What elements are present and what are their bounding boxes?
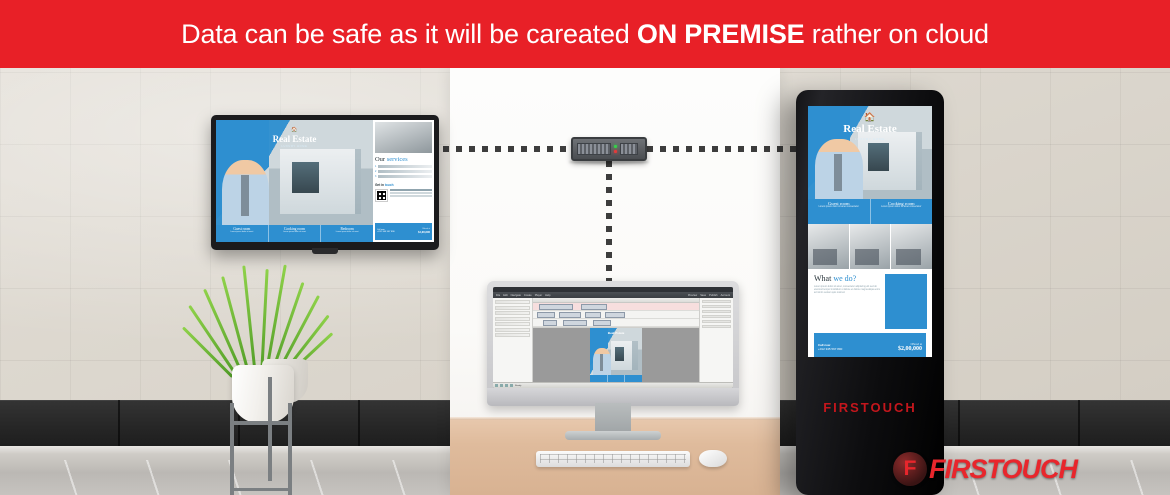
tv-feature-caption: Lorem ipsum dolor sit amet [217, 231, 267, 233]
menu-player[interactable]: Player [535, 294, 542, 297]
kiosk-feature-bar: Guest room Lorem ipsum dolor sit amet co… [808, 199, 932, 224]
wireless-keyboard[interactable] [536, 451, 690, 467]
menu-help[interactable]: Help [545, 294, 550, 297]
kiosk-thumbnail-row [808, 224, 932, 269]
kiosk-price: $2,00,000 [898, 346, 922, 352]
tv-feature-bar: Guest room Lorem ipsum dolor sit amet Co… [216, 225, 373, 242]
service-text-line [378, 170, 432, 173]
preview-canvas[interactable]: Real Estate [533, 328, 699, 384]
timeline-track[interactable] [533, 319, 699, 327]
headline-text: Data can be safe as it will be careated … [181, 19, 989, 50]
tv-feature-cell: Bedroom Lorem ipsum dolor sit amet [321, 225, 373, 242]
library-item[interactable] [495, 317, 530, 321]
kiosk-price-block: Offered at $2,00,000 [898, 343, 922, 352]
menu-create[interactable]: Create [524, 294, 532, 297]
player-vent-right [620, 143, 638, 155]
what-title-b: we do? [833, 274, 856, 283]
headline-part-1: Data can be safe as it will be careated [181, 19, 637, 49]
contact-label-b: touch [385, 183, 394, 187]
status-led-red-icon [614, 150, 617, 153]
home-icon: 🏠 [216, 127, 373, 133]
office-scene: 🏠 Real Estate LUXURY HOME Guest room Lor… [0, 68, 1170, 495]
promo-scene: Data can be safe as it will be careated … [0, 0, 1170, 495]
qr-caption [390, 189, 432, 202]
stand-leg [268, 377, 272, 481]
power-led-green-icon [614, 145, 617, 148]
qr-block [375, 189, 432, 202]
kiosk-brand-label: FIRSTOUCH [796, 400, 944, 415]
tv-price-block: Offered at $2,00,000 [418, 228, 430, 234]
tv-brand-block: 🏠 Real Estate LUXURY HOME [216, 120, 373, 148]
library-item[interactable] [495, 333, 530, 337]
digital-standee-kiosk[interactable]: 🏠 Real Estate LUXURY HOME Guest room Lor… [796, 90, 944, 495]
monitor-body: File Edit Navigate Create Player Help Pr… [487, 281, 739, 406]
headline-emphasis: ON PREMISE [637, 19, 805, 49]
kiosk-feature-caption: Lorem ipsum dolor sit amet consectetur [872, 206, 932, 208]
timeline-track[interactable] [533, 311, 699, 319]
tv-creative-right: Our services 1 2 3 Get in [373, 120, 434, 242]
kiosk-phone: +012 345 567 890 [818, 347, 898, 351]
network-link-left [430, 146, 571, 152]
library-item[interactable] [495, 300, 530, 304]
tv-footer-bar: Call now +012 345 567 890 Offered at $2,… [375, 223, 432, 240]
room-thumbnail [850, 224, 892, 269]
properties-panel[interactable] [699, 298, 733, 382]
headline-banner: Data can be safe as it will be careated … [0, 0, 1170, 68]
kiosk-hero: 🏠 Real Estate LUXURY HOME [808, 106, 932, 199]
tv-feature-cell: Cooking room Lorem ipsum dolor sit amet [269, 225, 322, 242]
kiosk-feature-cell: Cooking room Lorem ipsum dolor sit amet … [871, 199, 933, 224]
app-toolbar-right: Preview Save Publish Account [688, 294, 730, 297]
toolbar-publish[interactable]: Publish [709, 294, 718, 297]
agent-photo [815, 139, 862, 198]
toolbar-account[interactable]: Account [721, 294, 730, 297]
plant-pot [232, 365, 294, 423]
service-item: 3 [375, 175, 432, 178]
kiosk-brand-block: 🏠 Real Estate LUXURY HOME [808, 106, 932, 141]
room-thumbnail [808, 224, 850, 269]
tv-screen: 🏠 Real Estate LUXURY HOME Guest room Lor… [216, 120, 434, 242]
player-vent-left [577, 143, 611, 155]
network-link-down [606, 161, 612, 281]
property-row[interactable] [702, 325, 731, 328]
kiosk-call-block: Call now +012 345 567 890 [818, 343, 898, 351]
timeline-panel[interactable] [533, 298, 699, 328]
get-in-touch-label: Get in touch [375, 183, 432, 187]
preview-creative: Real Estate [590, 328, 642, 384]
tv-brand-subtitle: LUXURY HOME [216, 145, 373, 148]
headline-part-2: rather on cloud [804, 19, 988, 49]
kiosk-about-section: What we do? Lorem ipsum dolor sit amet, … [808, 269, 932, 329]
service-item: 2 [375, 170, 432, 173]
library-item[interactable] [495, 311, 530, 315]
stand-leg [288, 403, 292, 495]
kiosk-screen[interactable]: 🏠 Real Estate LUXURY HOME Guest room Lor… [808, 106, 932, 357]
menu-edit[interactable]: Edit [503, 294, 507, 297]
service-text-line [378, 165, 432, 168]
tv-brand-title: Real Estate [216, 134, 373, 144]
tv-feature-caption: Lorem ipsum dolor sit amet [270, 231, 320, 233]
stand-leg [230, 403, 234, 495]
monitor-screen[interactable]: File Edit Navigate Create Player Help Pr… [493, 287, 733, 388]
qr-code-icon [375, 189, 388, 202]
network-link-right [647, 146, 807, 152]
tv-hero: 🏠 Real Estate LUXURY HOME [216, 120, 373, 225]
tv-feature-caption: Lorem ipsum dolor sit amet [322, 231, 372, 233]
tv-call-block: Call now +012 345 567 890 [377, 229, 418, 233]
interior-photo [375, 122, 432, 153]
services-title-b: services [387, 156, 408, 163]
firstouch-wordmark: FIRSTOUCH [929, 454, 1077, 485]
tv-creative-left: 🏠 Real Estate LUXURY HOME Guest room Lor… [216, 120, 373, 242]
library-panel[interactable] [493, 298, 533, 382]
preview-title: Real Estate [590, 331, 642, 335]
library-item[interactable] [495, 306, 530, 310]
potted-grass-plant [206, 248, 318, 495]
library-item[interactable] [495, 328, 530, 332]
room-thumbnail [891, 224, 932, 269]
library-item[interactable] [495, 322, 530, 326]
kiosk-feature-caption: Lorem ipsum dolor sit amet consectetur [809, 206, 869, 208]
app-body: Real Estate [493, 298, 733, 382]
menu-file[interactable]: File [496, 294, 500, 297]
firstouch-watermark: FIRSTOUCH [893, 452, 1077, 486]
property-row[interactable] [702, 310, 731, 313]
service-number: 2 [375, 170, 376, 173]
menu-navigate[interactable]: Navigate [511, 294, 521, 297]
property-row[interactable] [702, 320, 731, 323]
what-title-a: What [814, 274, 833, 283]
property-row[interactable] [702, 305, 731, 308]
desktop-monitor[interactable]: File Edit Navigate Create Player Help Pr… [487, 281, 739, 416]
property-row[interactable] [702, 300, 731, 303]
media-player-box[interactable] [571, 137, 647, 161]
wall-mounted-display[interactable]: 🏠 Real Estate LUXURY HOME Guest room Lor… [211, 115, 439, 250]
kiosk-lorem-text: Lorem ipsum dolor sit amet, consectetur … [814, 286, 881, 295]
services-title: Our services [375, 156, 432, 163]
stand-bottom-rail [230, 488, 292, 491]
kiosk-price-label: Offered at [898, 343, 922, 346]
tv-feature-cell: Guest room Lorem ipsum dolor sit amet [216, 225, 269, 242]
toolbar-preview[interactable]: Preview [688, 294, 697, 297]
services-title-a: Our [375, 156, 387, 163]
toolbar-save[interactable]: Save [700, 294, 706, 297]
tv-price: $2,00,000 [418, 230, 430, 234]
tv-phone: +012 345 567 890 [377, 231, 418, 233]
home-icon: 🏠 [808, 112, 932, 122]
monitor-foot [565, 431, 661, 440]
service-number: 3 [375, 175, 376, 178]
tv-price-label: Offered at [418, 228, 430, 230]
kiosk-feature-cell: Guest room Lorem ipsum dolor sit amet co… [808, 199, 871, 224]
timeline-track[interactable] [533, 303, 699, 311]
stand-top-rail [230, 421, 292, 425]
player-led-group [614, 145, 617, 153]
service-number: 1 [375, 165, 376, 168]
kiosk-what-title: What we do? [814, 274, 881, 283]
wireless-mouse[interactable] [699, 450, 727, 467]
kiosk-brand-title: Real Estate [808, 123, 932, 135]
kiosk-footer-bar: Call now +012 345 567 890 Offered at $2,… [814, 333, 926, 357]
contact-label-a: Get in [375, 183, 385, 187]
property-row[interactable] [702, 315, 731, 318]
service-text-line [378, 175, 432, 178]
service-item: 1 [375, 165, 432, 168]
status-text: Ready [515, 385, 521, 387]
agent-photo [222, 160, 269, 225]
firstouch-badge-icon [893, 452, 927, 486]
kiosk-accent-block [885, 274, 927, 329]
editor-area: Real Estate [533, 298, 699, 382]
cms-application: File Edit Navigate Create Player Help Pr… [493, 287, 733, 388]
